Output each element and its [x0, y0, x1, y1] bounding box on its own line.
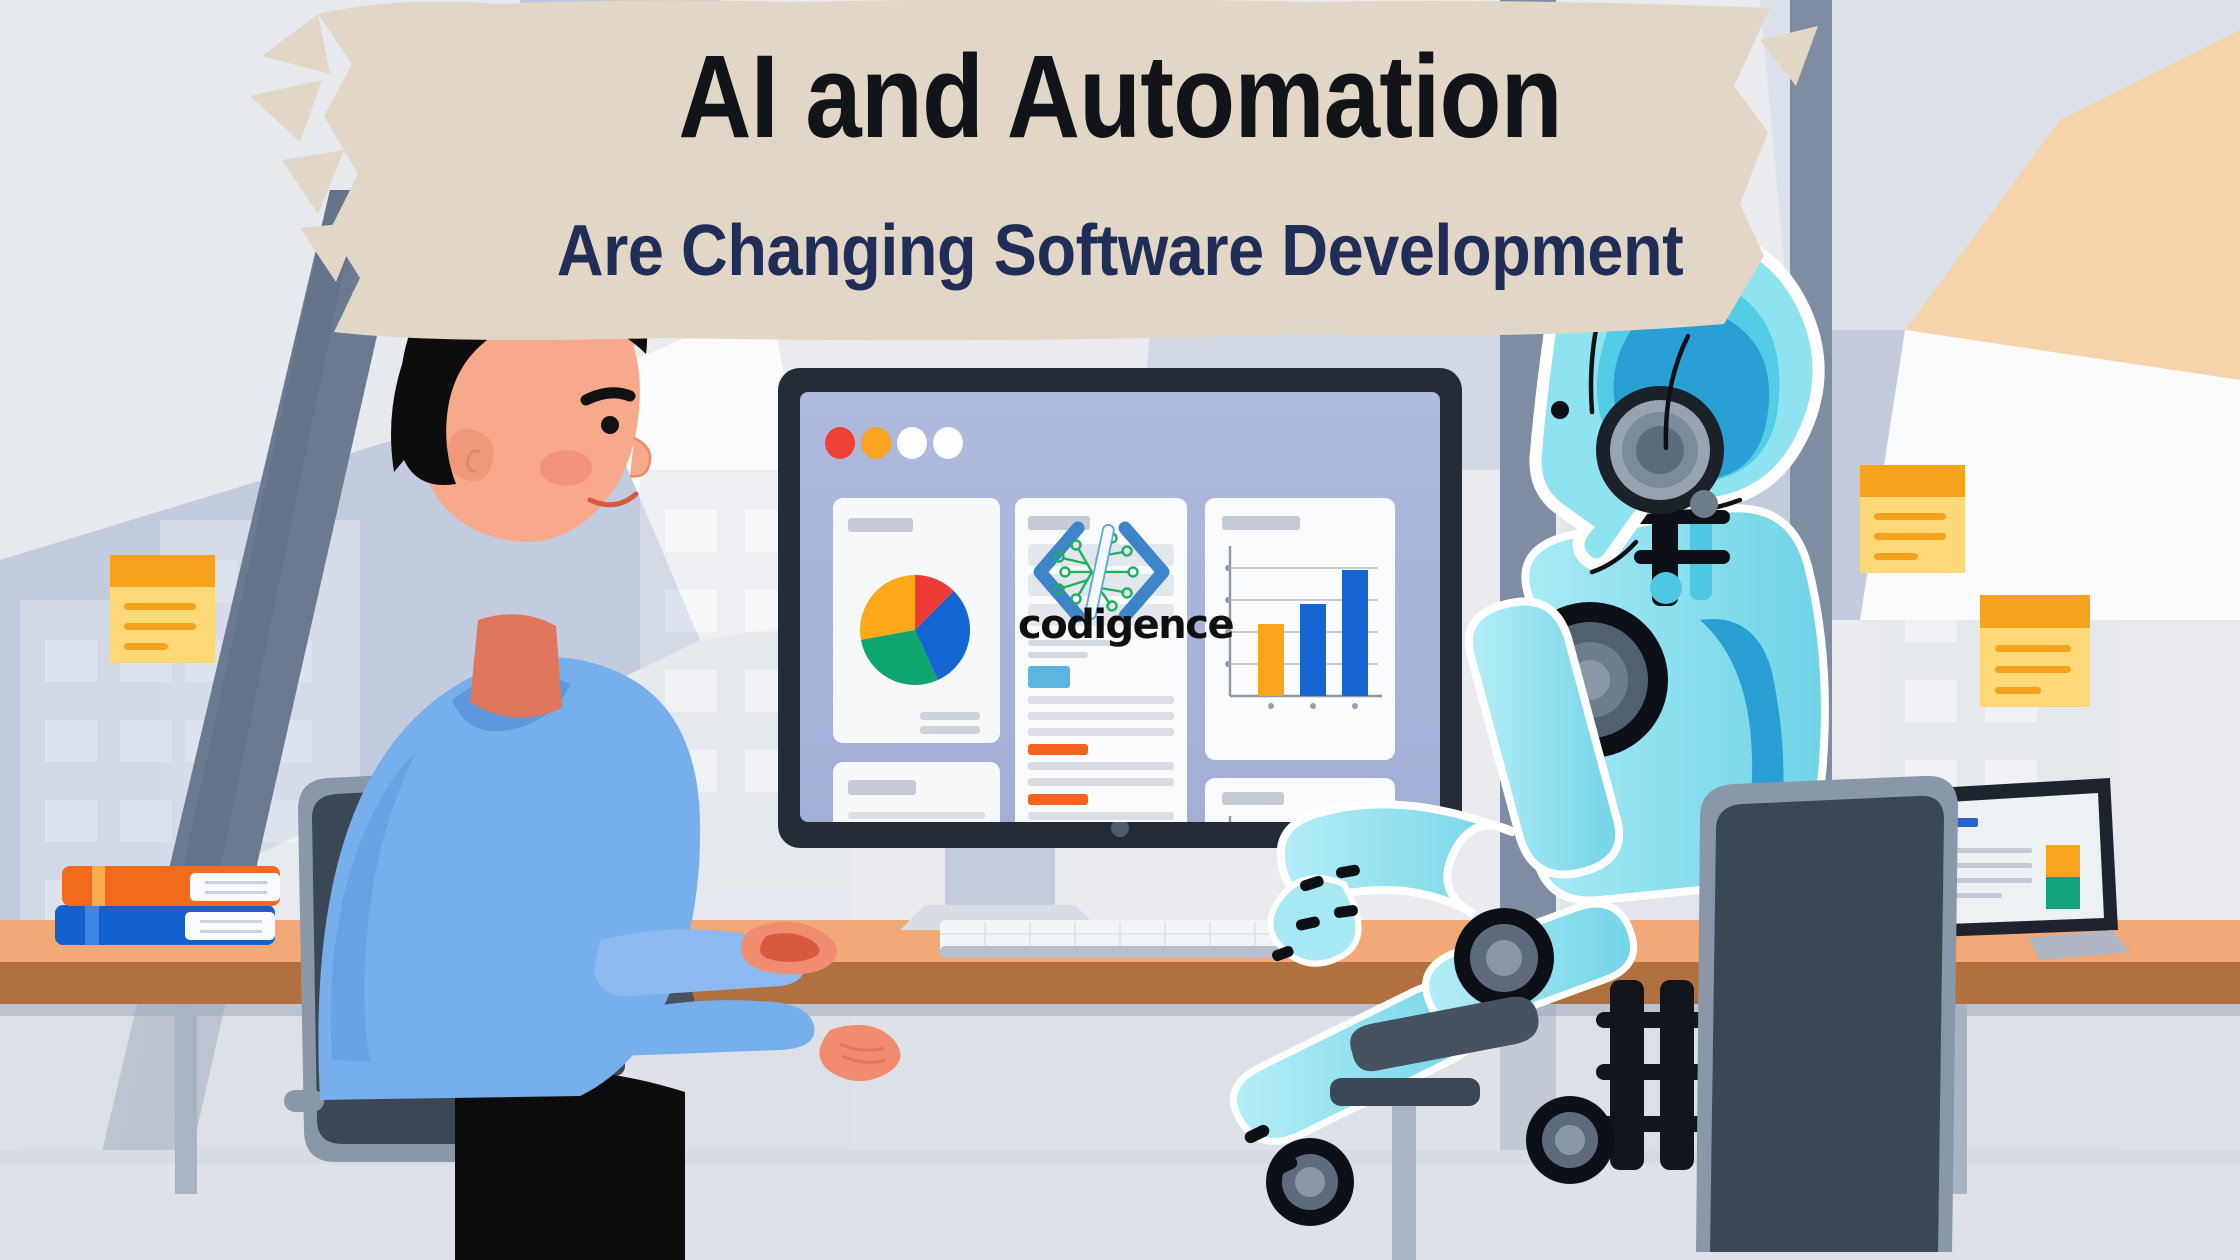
code-thumbnail	[1028, 666, 1070, 688]
right-chair-arm-support	[1330, 1078, 1480, 1106]
right-chair-column	[1392, 1106, 1416, 1260]
sticky-note-top-right	[1860, 465, 1965, 573]
maximize-dot[interactable]	[897, 427, 927, 459]
bar-chart-card-top[interactable]	[1205, 498, 1395, 760]
sticky-note-bottom-right	[1980, 595, 2090, 707]
desk-leg-left	[175, 1004, 197, 1194]
book-blue	[55, 905, 275, 945]
tablet-block-green	[2046, 877, 2080, 909]
robot-elbow-core	[1486, 940, 1522, 976]
extra-dot[interactable]	[933, 427, 963, 459]
sticky-note-left	[110, 555, 215, 663]
tablet-block-orange	[2046, 845, 2080, 877]
keyboard[interactable]	[940, 920, 1300, 958]
code-highlight-bar-1	[1028, 744, 1088, 755]
person-legs	[455, 1069, 685, 1260]
robot-jaw-bolt	[1690, 490, 1718, 518]
robot-knee-joint-core	[1295, 1167, 1325, 1197]
bar-1	[1258, 624, 1284, 696]
books-stack	[55, 866, 280, 945]
bar-3	[1342, 570, 1368, 696]
book-orange	[62, 866, 280, 906]
robot-hip-joint-core	[1555, 1125, 1585, 1155]
title-ribbon	[250, 0, 1818, 340]
person-cheek	[540, 450, 592, 486]
close-dot[interactable]	[825, 427, 855, 459]
robot-ear-core	[1636, 426, 1684, 474]
person-eye	[601, 416, 619, 434]
illustration-canvas: AI and Automation Are Changing Software …	[0, 0, 2240, 1260]
minimize-dot[interactable]	[861, 427, 891, 459]
pie-chart-card[interactable]	[833, 498, 1000, 743]
code-highlight-bar-2	[1028, 794, 1088, 805]
bar-2	[1300, 604, 1326, 696]
scene-svg	[0, 0, 2240, 1260]
person-neck	[470, 614, 562, 717]
pie-chart	[860, 575, 970, 685]
left-chair-pivot	[284, 1090, 324, 1112]
right-chair-back	[1710, 796, 1944, 1252]
